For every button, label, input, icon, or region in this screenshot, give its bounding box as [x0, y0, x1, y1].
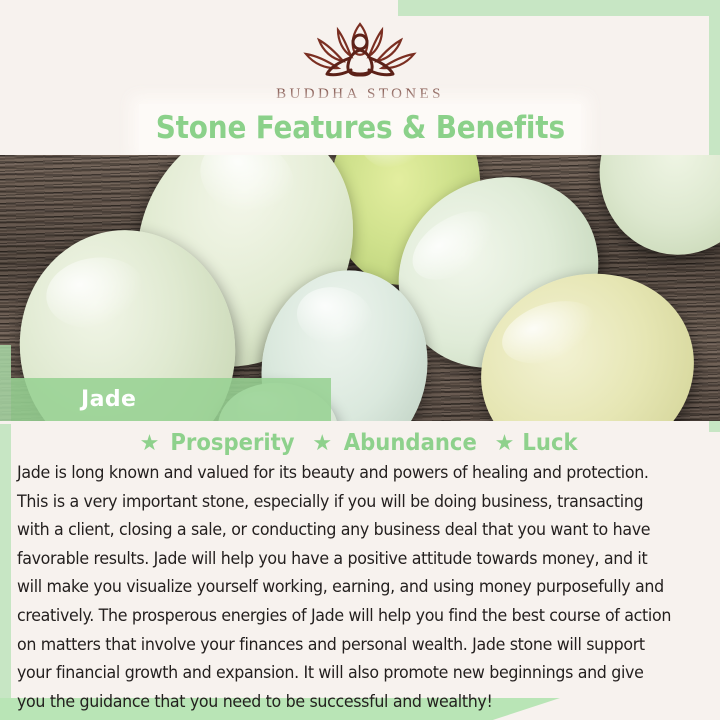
brand-logo: BUDDHA STONES — [0, 14, 720, 103]
star-icon: ★ — [312, 430, 332, 456]
page-title-band: Stone Features & Benefits — [139, 104, 581, 152]
lotus-meditation-icon — [294, 14, 426, 84]
infographic-page: BUDDHA STONES Stone Features & Benefits … — [0, 0, 720, 720]
star-icon: ★ — [140, 430, 160, 456]
star-icon: ★ — [495, 430, 515, 456]
stone-name: Jade — [81, 387, 136, 412]
brand-wordmark: BUDDHA STONES — [0, 86, 720, 103]
decor-photo-left-accent — [0, 345, 11, 421]
decor-left-strip — [0, 424, 11, 720]
keyword-row: ★Prosperity★Abundance★Luck — [0, 430, 720, 456]
description-text: Jade is long known and valued for its be… — [17, 459, 672, 716]
keyword-luck: Luck — [523, 430, 578, 456]
stone-name-band: Jade — [11, 378, 331, 421]
page-title: Stone Features & Benefits — [155, 110, 564, 146]
keyword-abundance: Abundance — [344, 430, 477, 456]
keyword-prosperity: Prosperity — [171, 430, 295, 456]
